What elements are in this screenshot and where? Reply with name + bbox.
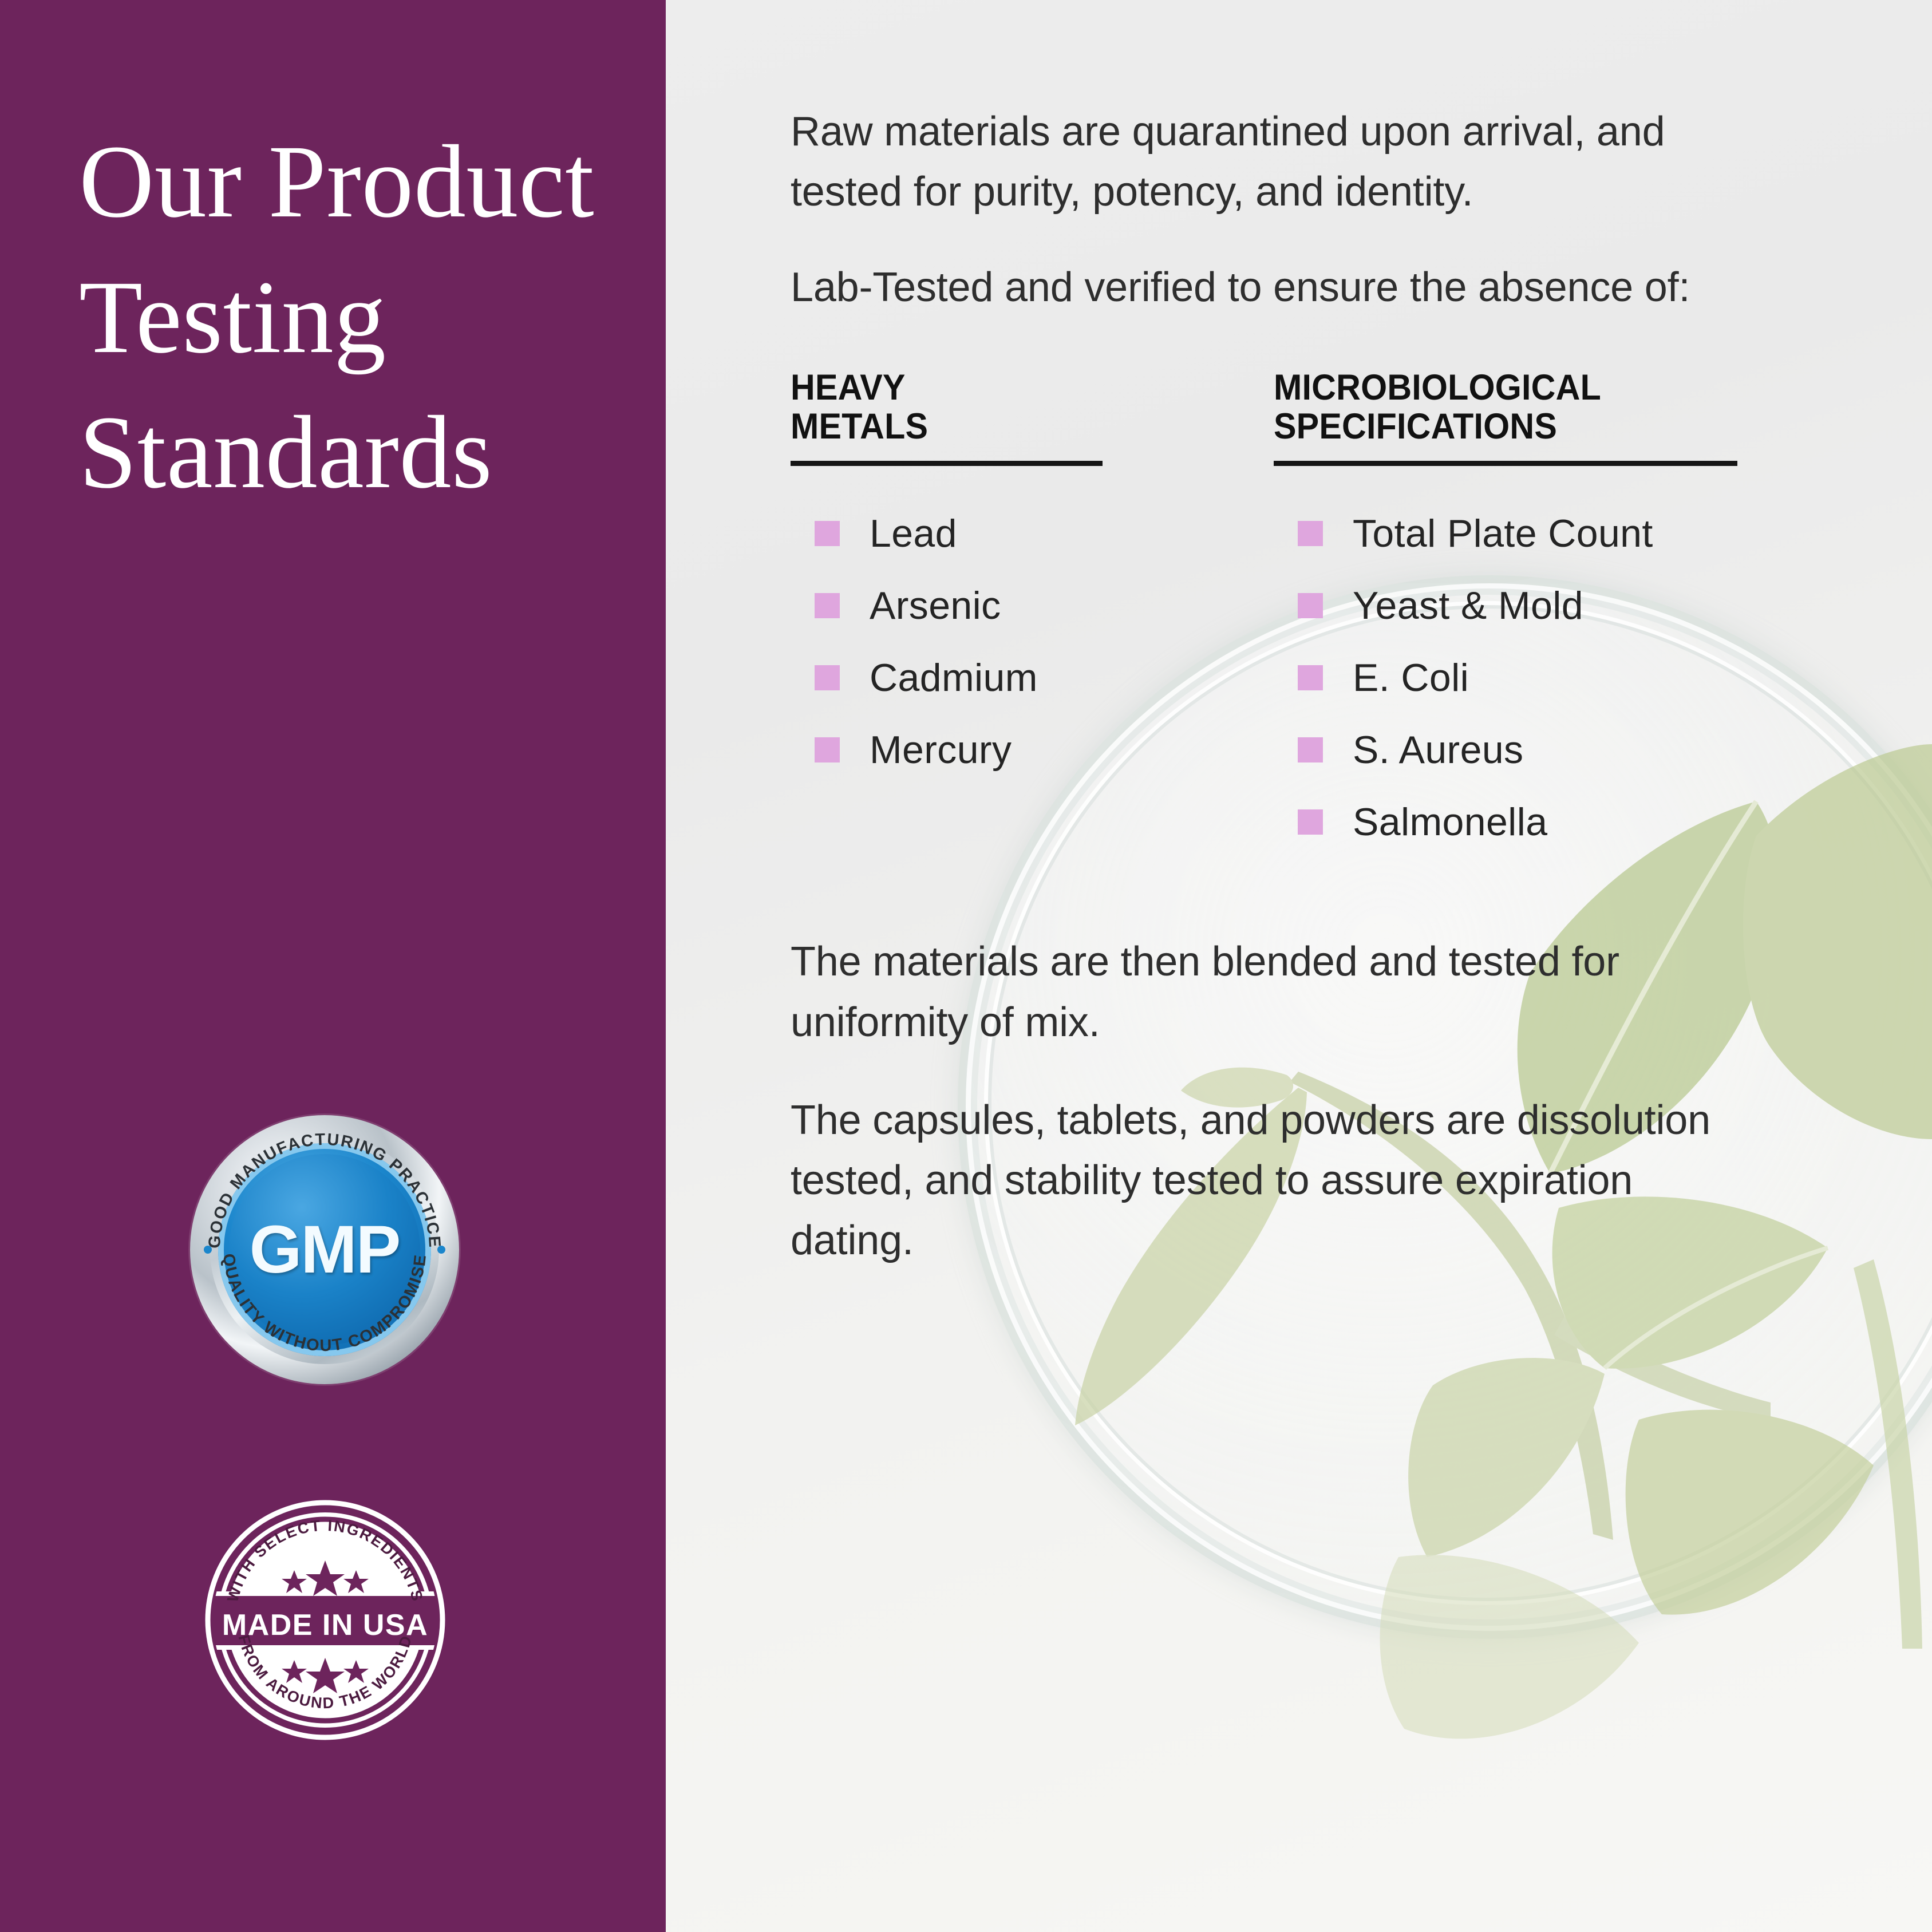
bullet-square-icon (1298, 521, 1323, 546)
list-item-label: S. Aureus (1353, 730, 1523, 769)
heavy-metals-column: HEAVY METALS Lead Arsenic (791, 368, 1203, 863)
right-panel-content: Raw materials are quarantined upon arriv… (666, 0, 1815, 1271)
microbiological-specifications-column: MICROBIOLOGICAL SPECIFICATIONS Total Pla… (1274, 368, 1789, 863)
closing-paragraph-2: The capsules, tablets, and powders are d… (791, 1091, 1741, 1271)
bullet-square-icon (815, 521, 840, 546)
bullet-square-icon (1298, 665, 1323, 690)
gmp-arc-text: GOOD MANUFACTURING PRACTICE QUALITY WITH… (190, 1115, 459, 1384)
list-item: Salmonella (1274, 791, 1789, 853)
list-item-label: E. Coli (1353, 658, 1469, 697)
made-in-usa-badge: MADE IN USA WITH SELECT INGREDIENTS FROM… (193, 1488, 457, 1752)
list-item: Mercury (791, 719, 1203, 781)
microbiological-specifications-heading: MICROBIOLOGICAL SPECIFICATIONS (1274, 368, 1758, 446)
heavy-metals-list: Lead Arsenic Cadmium Mercury (791, 503, 1203, 781)
bullet-square-icon (1298, 737, 1323, 762)
gmp-arc-top-text: GOOD MANUFACTURING PRACTICE (206, 1131, 444, 1249)
list-item-label: Arsenic (870, 586, 1001, 625)
list-item: Lead (791, 503, 1203, 564)
list-item-label: Salmonella (1353, 803, 1547, 841)
page-title: Our Product Testing Standards (79, 114, 617, 521)
list-item-label: Yeast & Mold (1353, 586, 1583, 625)
heavy-metals-heading: HEAVY METALS (791, 368, 1178, 446)
list-item: Yeast & Mold (1274, 575, 1789, 637)
bullet-square-icon (815, 593, 840, 618)
bullet-square-icon (815, 665, 840, 690)
made-in-usa-band-label: MADE IN USA (222, 1609, 428, 1642)
list-item: Arsenic (791, 575, 1203, 637)
gmp-arc-bottom-text: QUALITY WITHOUT COMPROMISE (219, 1253, 430, 1355)
list-item: Cadmium (791, 647, 1203, 709)
list-item-label: Total Plate Count (1353, 514, 1653, 553)
microbiological-heading-rule (1274, 461, 1737, 466)
product-testing-standards-graphic: Our Product Testing Standards GMP GOOD M… (0, 0, 1932, 1932)
left-purple-panel: Our Product Testing Standards GMP GOOD M… (0, 0, 666, 1932)
list-item-label: Mercury (870, 730, 1012, 769)
list-item-label: Cadmium (870, 658, 1038, 697)
testing-columns: HEAVY METALS Lead Arsenic (791, 368, 1815, 863)
closing-paragraph-1: The materials are then blended and teste… (791, 932, 1741, 1052)
list-item: E. Coli (1274, 647, 1789, 709)
intro-paragraph-1: Raw materials are quarantined upon arriv… (791, 102, 1741, 222)
microbiological-list: Total Plate Count Yeast & Mold E. Coli (1274, 503, 1789, 853)
list-item: Total Plate Count (1274, 503, 1789, 564)
bullet-square-icon (1298, 809, 1323, 835)
closing-paragraphs: The materials are then blended and teste… (791, 932, 1815, 1271)
intro-paragraph-2: Lab-Tested and verified to ensure the ab… (791, 258, 1741, 318)
gmp-badge: GMP GOOD MANUFACTURING PRACTICE QUALITY … (190, 1115, 459, 1384)
right-content-panel: Raw materials are quarantined upon arriv… (666, 0, 1932, 1932)
list-item: S. Aureus (1274, 719, 1789, 781)
bullet-square-icon (815, 737, 840, 762)
heavy-metals-heading-rule (791, 461, 1103, 466)
list-item-label: Lead (870, 514, 957, 553)
bullet-square-icon (1298, 593, 1323, 618)
